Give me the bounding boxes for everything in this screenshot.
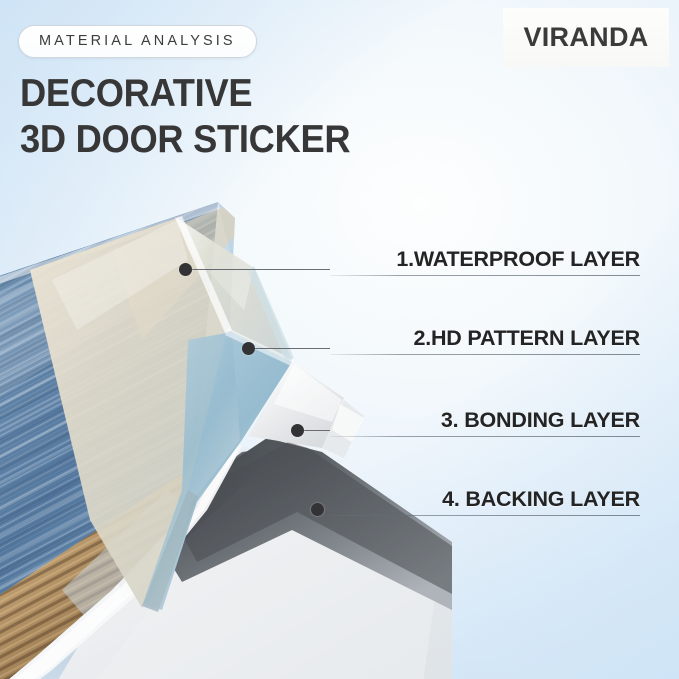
infographic-canvas: MATERIAL ANALYSIS DECORATIVE 3D DOOR STI… [0, 0, 679, 679]
callout-label-2: 2.HD PATTERN LAYER [413, 326, 640, 351]
material-analysis-badge: MATERIAL ANALYSIS [18, 25, 257, 58]
callout-label-3: 3. BONDING LAYER [441, 408, 640, 433]
callout-label-4: 4. BACKING LAYER [442, 487, 640, 512]
brand-name: VIRANDA [523, 22, 648, 53]
callout-label-1: 1.WATERPROOF LAYER [396, 247, 640, 272]
callout-underline-1 [330, 275, 640, 276]
leader-line-3 [302, 430, 330, 431]
dot-marker-4 [311, 503, 324, 516]
door-sticker-illustration [0, 190, 452, 679]
callout-underline-2 [330, 354, 640, 355]
callout-underline-3 [330, 436, 640, 437]
leader-line-2 [253, 348, 330, 349]
callout-underline-4 [330, 515, 640, 516]
dot-marker-3 [291, 424, 304, 437]
brand-logo: VIRANDA [503, 8, 669, 67]
leader-line-1 [190, 269, 330, 270]
dot-marker-2 [242, 342, 255, 355]
page-title-line-1: DECORATIVE [20, 74, 252, 113]
dot-marker-1 [179, 263, 192, 276]
page-title-line-2: 3D DOOR STICKER [20, 120, 350, 159]
